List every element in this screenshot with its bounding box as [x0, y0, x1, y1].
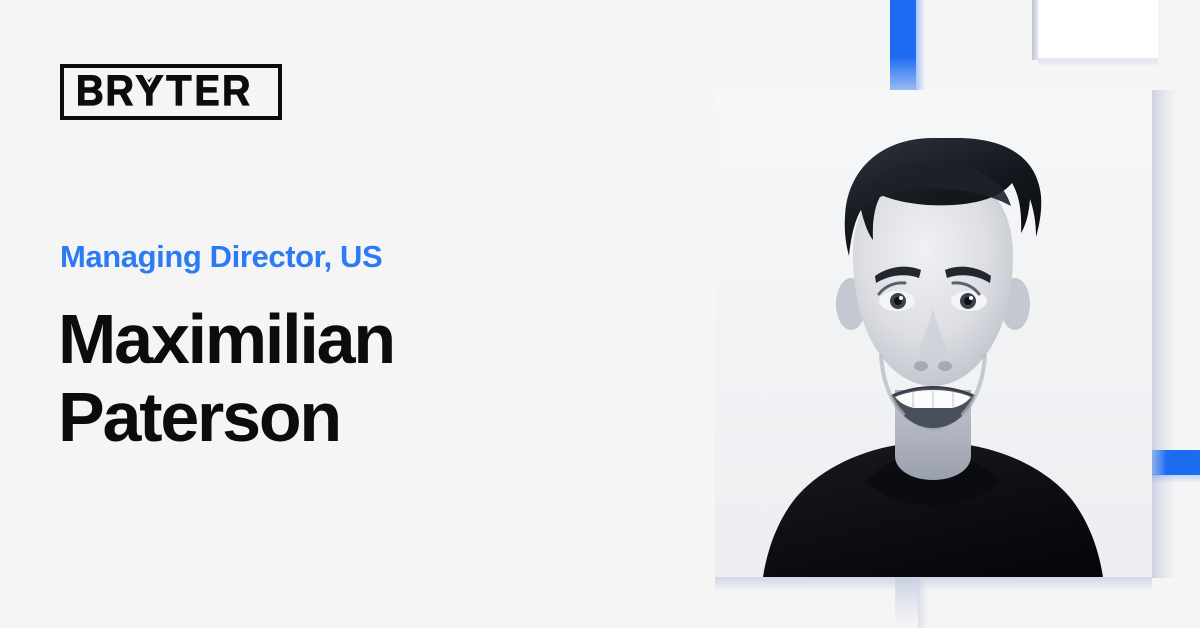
decoration-pale-vertical-band-right [1152, 90, 1176, 578]
person-name: Maximilian Paterson [58, 300, 394, 456]
bryter-logo [60, 64, 282, 120]
portrait-photo [715, 90, 1152, 577]
person-last-name: Paterson [58, 378, 394, 456]
social-share-card: Managing Director, US Maximilian Paterso… [0, 0, 1200, 628]
bryter-wordmark-icon [78, 75, 264, 109]
decoration-white-rectangle-top-right [1038, 0, 1158, 60]
decoration-photo-shadow [715, 577, 1152, 591]
decoration-blue-horizontal-bar-right [1152, 450, 1200, 475]
person-role: Managing Director, US [60, 239, 382, 275]
person-first-name: Maximilian [58, 300, 394, 378]
decoration-pale-vertical-sliver-bottom [895, 577, 919, 628]
